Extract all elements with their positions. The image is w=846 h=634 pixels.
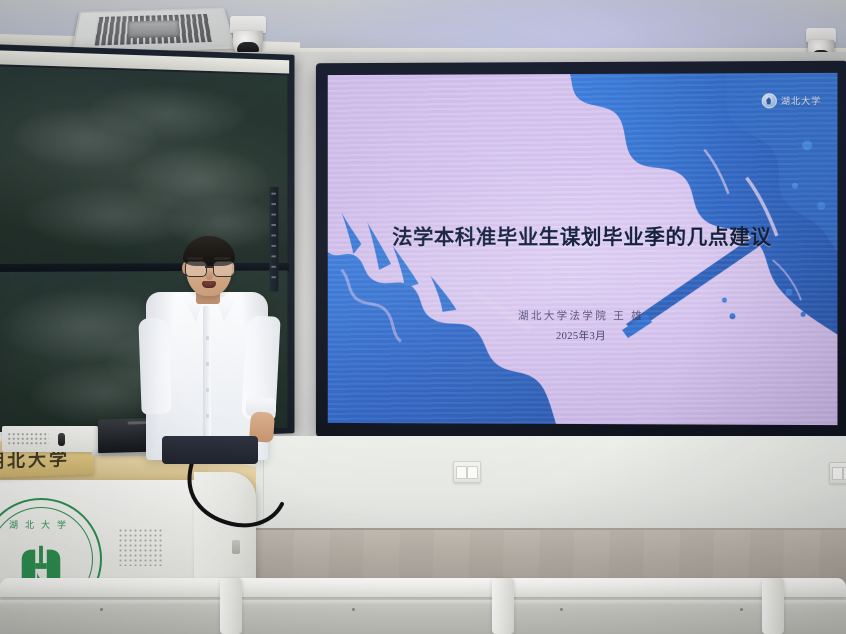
podium-port	[232, 540, 240, 554]
presenter-left-arm	[138, 318, 171, 415]
hvac-vent-icon	[71, 8, 235, 54]
university-badge-icon	[762, 93, 777, 108]
slide-date: 2025年3月	[328, 328, 838, 344]
podium-vent-dots	[118, 528, 162, 566]
emblem-cn-text: 湖北大学	[9, 518, 73, 531]
presenter-mouth	[202, 281, 216, 288]
slide-title: 法学本科准毕业生谋划毕业季的几点建议	[328, 220, 838, 250]
lecture-hall-photo: 湖北大学 法学本科准毕业生谋划毕业季的几点建议 湖北大学法学院 王 雄 2025…	[0, 0, 846, 634]
slide-logo-text: 湖北大学	[781, 94, 821, 107]
front-desk-counter	[0, 578, 846, 634]
wall-outlet-right-icon[interactable]	[829, 462, 846, 484]
presenter-trousers	[162, 436, 258, 464]
wall-outlet-icon[interactable]	[453, 461, 481, 483]
control-knob[interactable]	[58, 433, 65, 446]
slide-university-logo: 湖北大学	[762, 93, 822, 108]
podium-control-panel[interactable]	[2, 426, 98, 452]
chalkboard-upper-panel	[0, 66, 287, 266]
slide-affiliation: 湖北大学法学院 王 雄	[328, 308, 838, 324]
display-screen: 湖北大学 法学本科准毕业生谋划毕业季的几点建议 湖北大学法学院 王 雄 2025…	[328, 73, 838, 425]
dome-camera-icon	[230, 16, 266, 56]
presenter	[140, 240, 280, 460]
presentation-display[interactable]: 湖北大学 法学本科准毕业生谋划毕业季的几点建议 湖北大学法学院 王 雄 2025…	[316, 61, 846, 440]
